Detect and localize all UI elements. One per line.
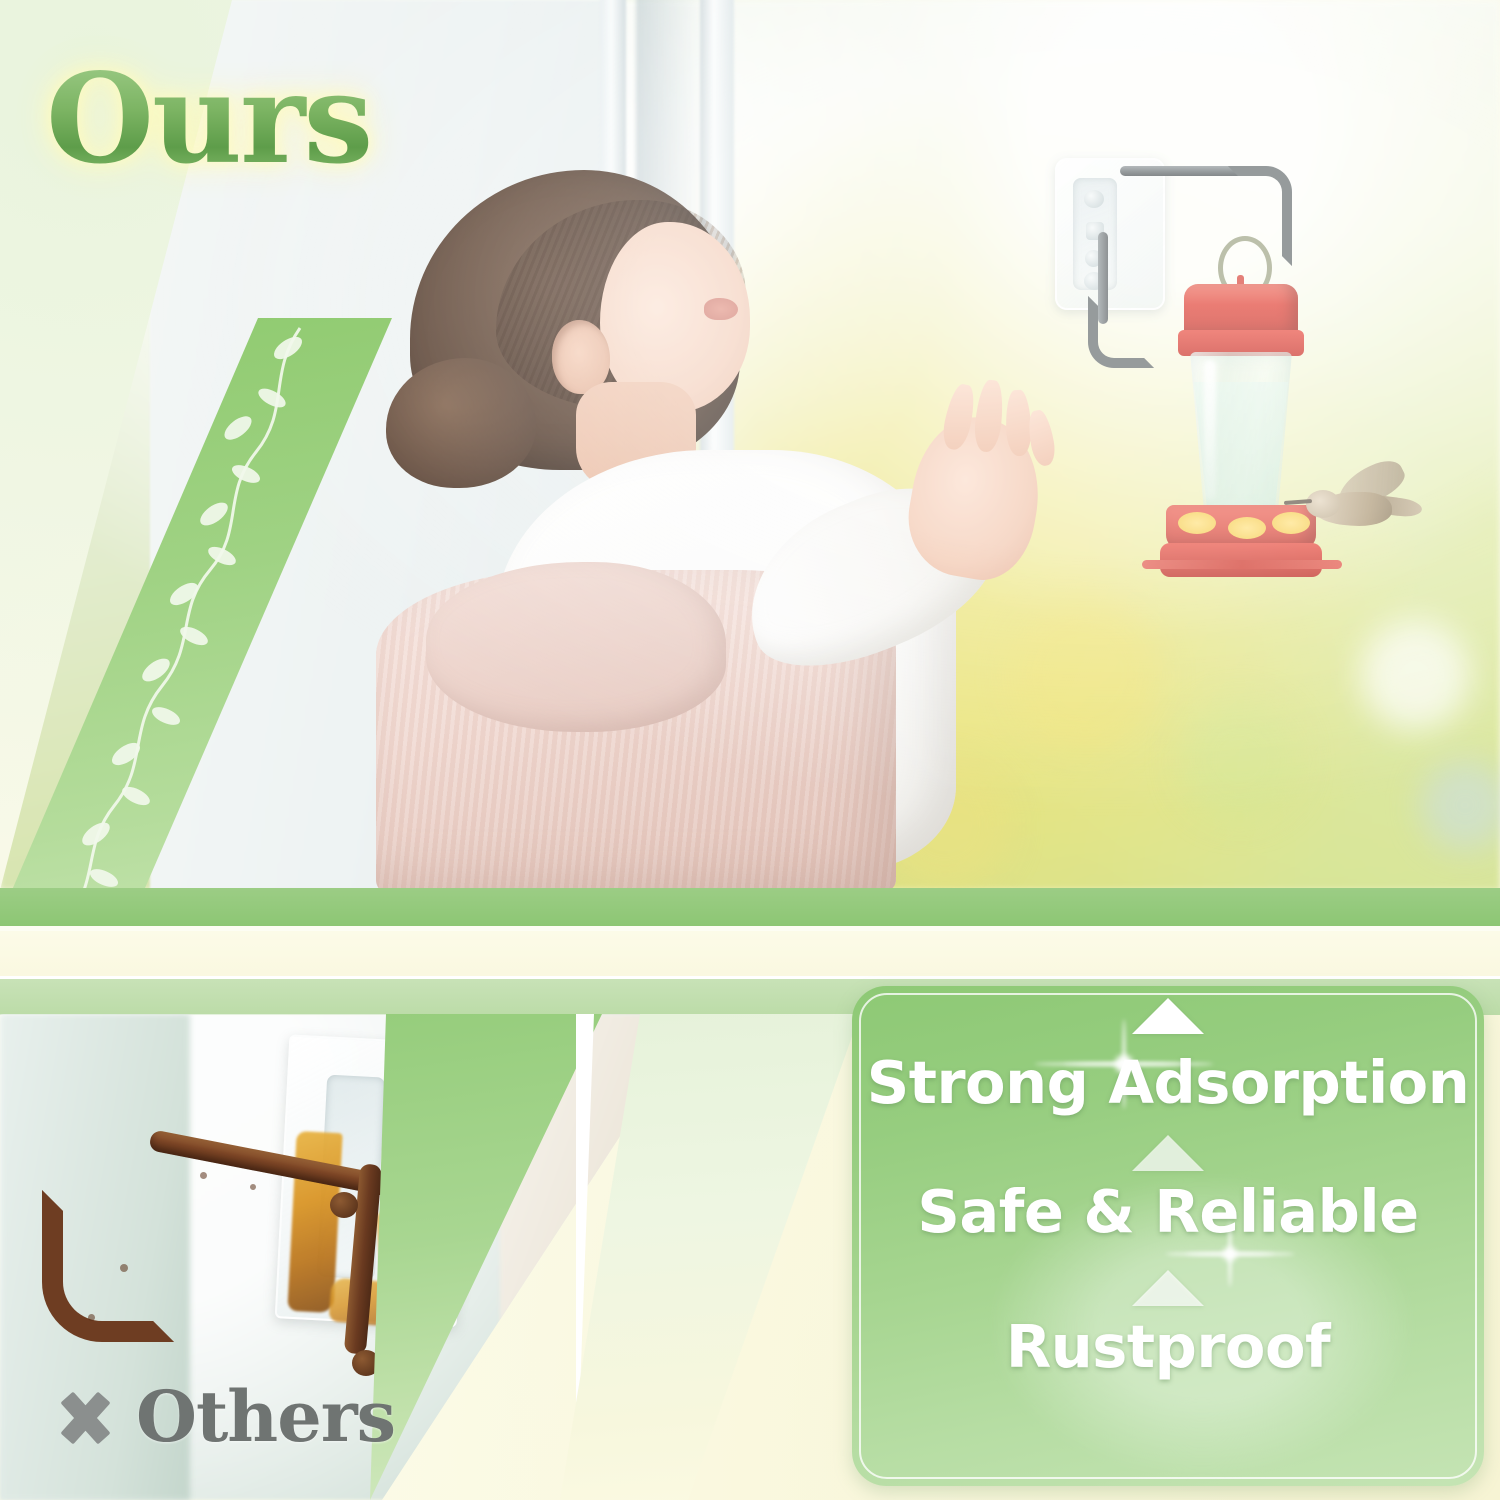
feeder-flower-port — [1228, 517, 1266, 539]
bokeh-dot — [1180, 700, 1300, 820]
others-tag: Others — [52, 1382, 395, 1452]
feature-label-strong-adsorption: Strong Adsorption — [867, 1048, 1469, 1117]
feature-highlights-card: Strong Adsorption Safe & Reliable Rustpr… — [852, 986, 1484, 1486]
toddler-lips — [704, 298, 738, 320]
feeder-red-cap — [1184, 284, 1298, 336]
bokeh-dot — [1010, 600, 1160, 750]
toddler-figure — [300, 170, 1000, 890]
feeder-highlight — [1204, 360, 1216, 500]
toddler-hair-bun — [386, 358, 536, 488]
bokeh-dot — [1360, 620, 1470, 730]
hummingbird — [1300, 470, 1412, 540]
feature-label-rustproof: Rustproof — [1006, 1312, 1330, 1381]
rust-speck — [120, 1264, 128, 1272]
rusty-screw-nub — [330, 1192, 358, 1218]
pad-detail-dot — [1084, 190, 1104, 208]
feature-list: Strong Adsorption Safe & Reliable Rustpr… — [852, 986, 1484, 1486]
others-label: Others — [136, 1382, 395, 1452]
separator-band-green — [0, 888, 1500, 928]
product-comparison-graphic: Ours Others Strong A — [0, 0, 1500, 1500]
feature-label-safe-reliable: Safe & Reliable — [917, 1177, 1418, 1246]
bokeh-dot — [1420, 760, 1500, 850]
rusty-hook-curve — [42, 1190, 174, 1342]
hook-j-tip — [1088, 296, 1154, 368]
triangle-up-icon — [1132, 998, 1204, 1034]
rust-speck — [200, 1172, 207, 1179]
triangle-up-icon — [1132, 1135, 1204, 1171]
separator-band-cream — [0, 931, 1500, 978]
hummingbird-head — [1306, 490, 1340, 518]
toddler-dress-yoke — [426, 562, 726, 732]
rust-speck — [88, 1314, 95, 1321]
feeder-flower-port — [1178, 512, 1216, 534]
triangle-up-icon — [1132, 1270, 1204, 1306]
x-mark-icon — [52, 1384, 118, 1450]
feeder-perch-bar — [1142, 560, 1342, 569]
ours-title: Ours — [46, 58, 371, 182]
rust-speck — [250, 1184, 256, 1190]
